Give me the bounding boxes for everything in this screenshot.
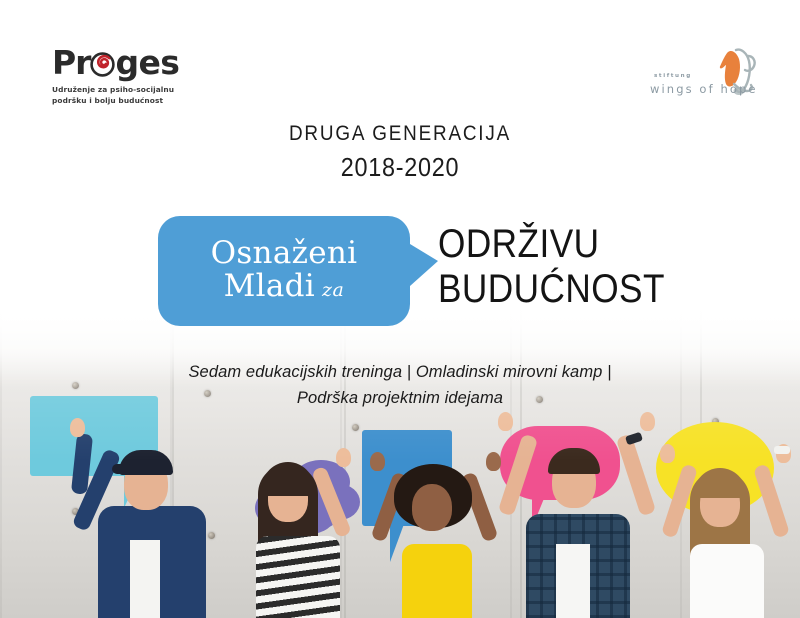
subtitle-block: Sedam edukacijskih treninga | Omladinski… [0, 360, 800, 411]
subtitle-line-2: Podrška projektnim idejama [0, 386, 800, 412]
generation-heading: DRUGA GENERACIJA 2018-2020 [0, 122, 800, 183]
young-woman-yellow-top [368, 446, 508, 618]
title-speech-bubble: Osnaženi Mladiza [158, 216, 410, 326]
cover-photograph [0, 300, 800, 618]
young-woman-striped-top [232, 442, 364, 618]
title-speech-bubble-tail [410, 244, 438, 286]
title-bubble-line-1: Osnaženi [211, 237, 358, 270]
proges-logo[interactable]: Pr ges Udruženje za psiho-socijalnu podr… [52, 46, 232, 106]
generation-years: 2018-2020 [40, 152, 760, 183]
proges-tagline-line-2: podršku i bolju budućnost [52, 96, 232, 107]
title-speech-bubble-text: Osnaženi Mladiza [158, 216, 410, 326]
red-spiral-icon [90, 49, 115, 74]
proges-tagline: Udruženje za psiho-socijalnu podršku i b… [52, 85, 232, 106]
young-man-denim-shirt [78, 400, 228, 618]
title-bubble-script-word: za [322, 279, 344, 301]
wristwatch [625, 432, 643, 446]
wings-of-hope-logo[interactable]: stiftung wings of hope [640, 46, 772, 108]
proges-word-part-1: Pr [52, 43, 90, 82]
wings-of-hope-wordmark: wings of hope [650, 82, 758, 96]
wings-of-hope-stiftung-label: stiftung [654, 73, 692, 79]
title-right-line-1: ODRŽIVU [438, 222, 665, 267]
proges-wordmark: Pr ges [52, 46, 232, 79]
proges-tagline-line-1: Udruženje za psiho-socijalnu [52, 85, 232, 96]
butterfly-wing-icon [702, 46, 764, 109]
title-right-line-2: BUDUĆNOST [438, 267, 665, 312]
proges-word-part-2: ges [115, 43, 179, 82]
subtitle-line-1: Sedam edukacijskih treninga | Omladinski… [0, 360, 800, 386]
young-man-plaid-shirt [500, 412, 656, 618]
wrist-cuff [774, 446, 790, 454]
generation-line-1: DRUGA GENERACIJA [40, 122, 760, 146]
poster-canvas: Pr ges Udruženje za psiho-socijalnu podr… [0, 0, 800, 618]
title-right-headline: ODRŽIVU BUDUĆNOST [438, 222, 696, 312]
young-woman-white-top [660, 442, 792, 618]
title-bubble-line-2-word: Mladi [224, 268, 315, 304]
title-bubble-line-2: Mladiza [224, 270, 345, 303]
